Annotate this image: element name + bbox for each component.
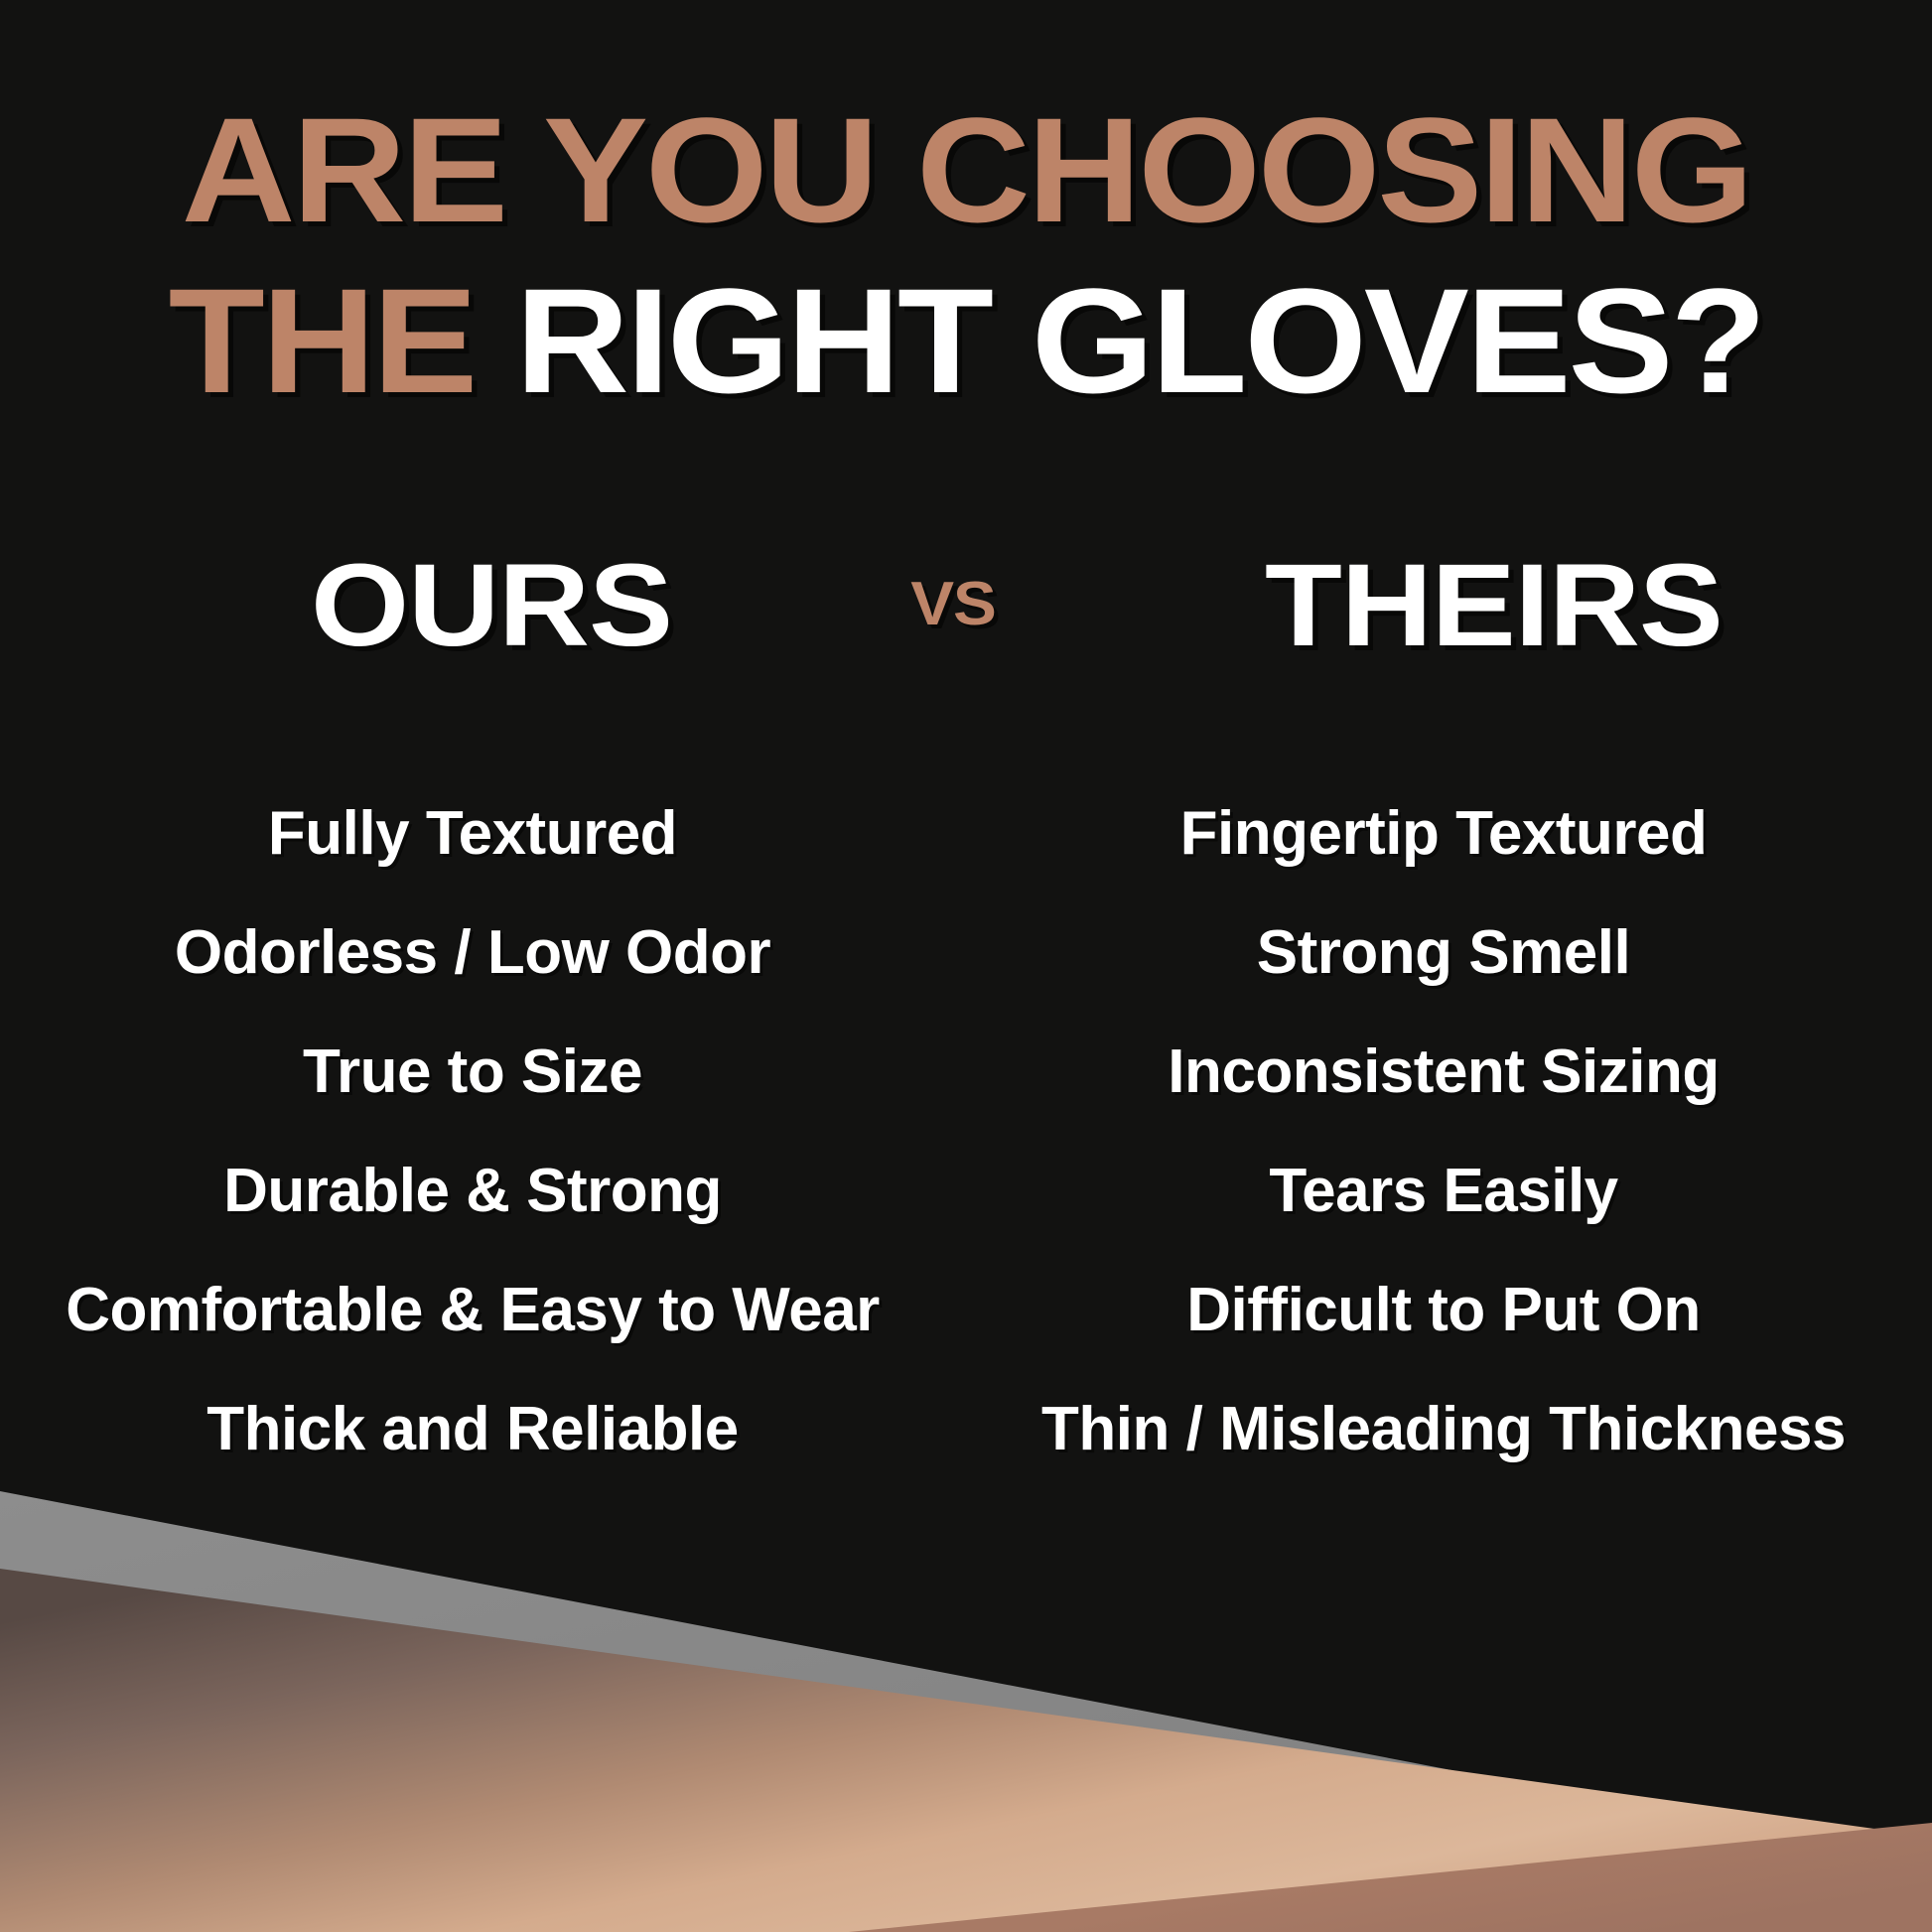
cell-ours: Odorless / Low Odor <box>0 894 945 1013</box>
cell-theirs: Inconsistent Sizing <box>955 1013 1932 1132</box>
tan-gradient-wedge-shape <box>0 1569 1932 1932</box>
cell-ours: Durable & Strong <box>0 1132 945 1251</box>
cell-ours: Fully Textured <box>0 774 945 894</box>
cell-theirs: Difficult to Put On <box>955 1251 1932 1370</box>
comparison-row: Thick and ReliableThin / Misleading Thic… <box>0 1370 1932 1489</box>
column-header-ours: OURS <box>277 544 706 667</box>
cell-ours: Thick and Reliable <box>0 1370 945 1489</box>
cell-ours: Comfortable & Easy to Wear <box>0 1251 945 1370</box>
title-line-2-accent: THE <box>169 257 515 424</box>
cell-theirs: Fingertip Textured <box>955 774 1932 894</box>
cell-theirs: Thin / Misleading Thickness <box>955 1370 1932 1489</box>
title-line-1: ARE YOU CHOOSING <box>0 87 1932 228</box>
comparison-headers: OURS VS THEIRS <box>0 544 1932 673</box>
cell-theirs: Tears Easily <box>955 1132 1932 1251</box>
comparison-row: Fully TexturedFingertip Textured <box>0 774 1932 894</box>
poster-canvas: ARE YOU CHOOSING THE RIGHT GLOVES? OURS … <box>0 0 1932 1932</box>
comparison-row: True to SizeInconsistent Sizing <box>0 1013 1932 1132</box>
page-title: ARE YOU CHOOSING THE RIGHT GLOVES? <box>0 87 1932 399</box>
comparison-list: Fully TexturedFingertip TexturedOdorless… <box>0 774 1932 1489</box>
gray-wedge-shape <box>0 1491 1932 1932</box>
cell-ours: True to Size <box>0 1013 945 1132</box>
title-line-2-white: RIGHT GLOVES? <box>515 257 1763 424</box>
column-header-theirs: THEIRS <box>1265 544 1694 667</box>
versus-label: VS <box>848 572 1058 637</box>
comparison-row: Durable & StrongTears Easily <box>0 1132 1932 1251</box>
comparison-row: Odorless / Low OdorStrong Smell <box>0 894 1932 1013</box>
title-line-2: THE RIGHT GLOVES? <box>0 228 1932 399</box>
comparison-row: Comfortable & Easy to WearDifficult to P… <box>0 1251 1932 1370</box>
brown-wedge-shape <box>849 1823 1932 1932</box>
cell-theirs: Strong Smell <box>955 894 1932 1013</box>
